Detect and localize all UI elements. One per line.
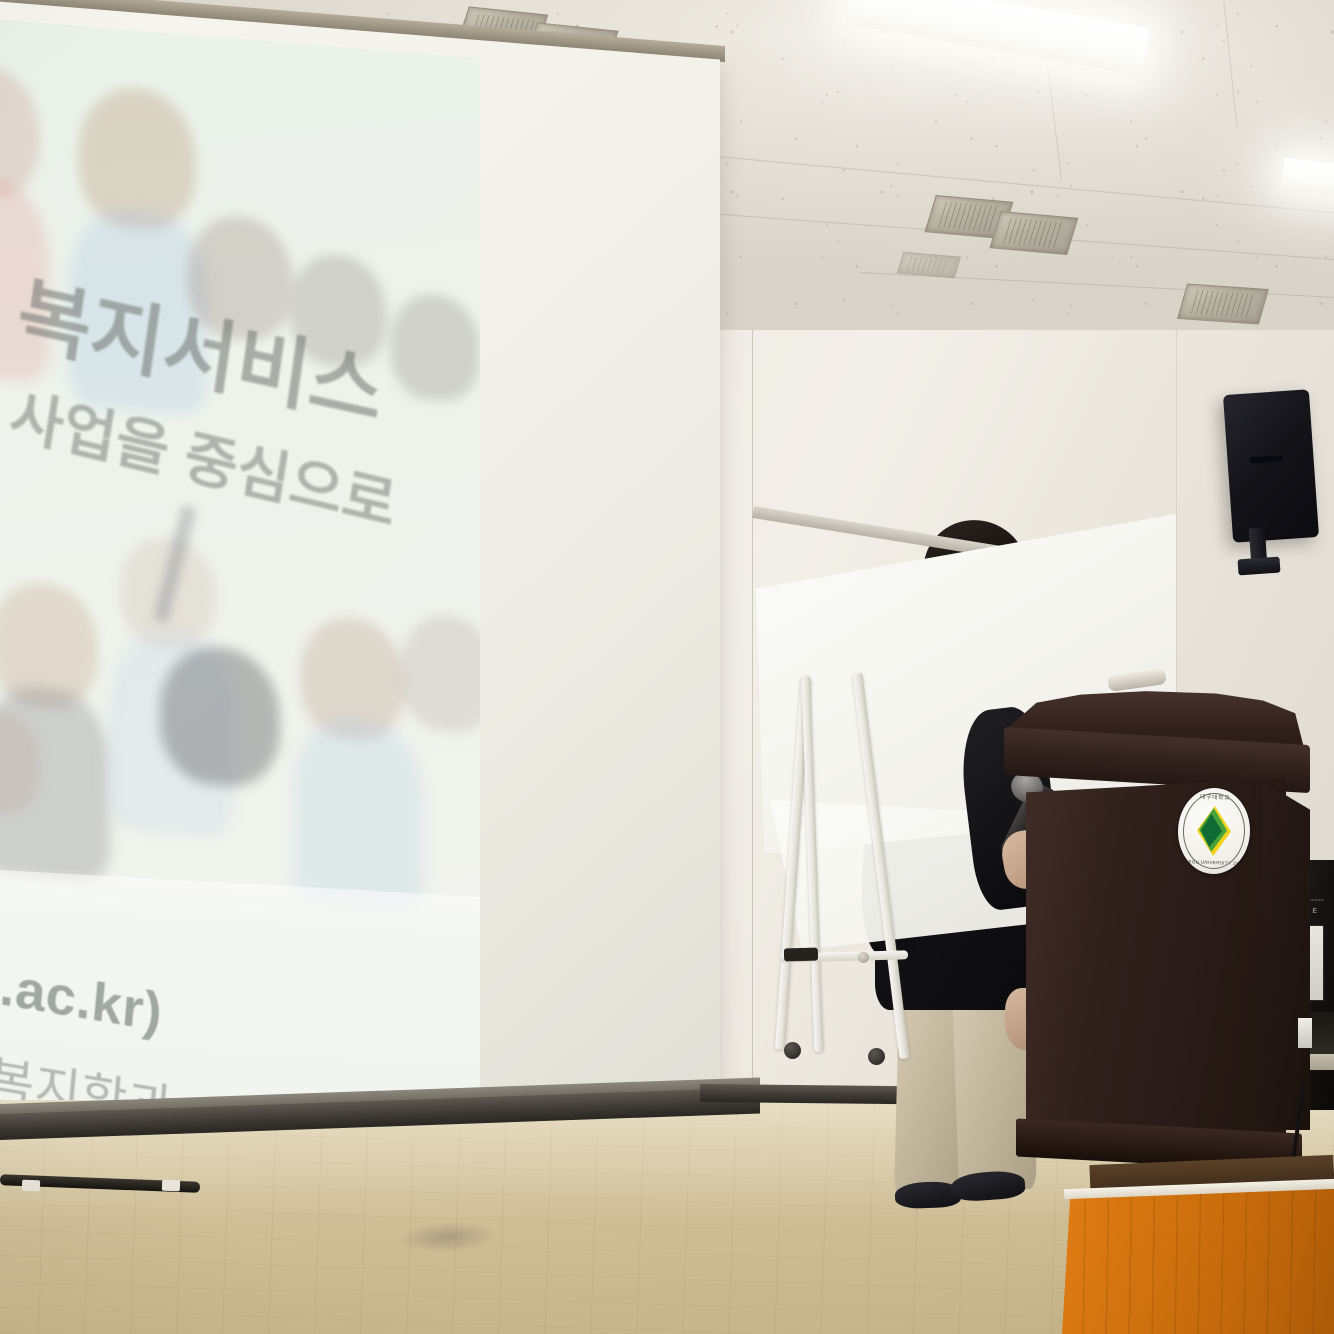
speaker-port — [1249, 455, 1283, 463]
speaker-bracket-base — [1237, 557, 1280, 576]
slide-child-body — [292, 715, 424, 916]
wood-panel — [1062, 1186, 1334, 1334]
rack-device — [1298, 1018, 1312, 1048]
ceiling-air-vent — [1177, 283, 1269, 324]
slide-child — [160, 642, 280, 790]
cable-tape-marker — [162, 1180, 180, 1192]
slide-child — [0, 62, 40, 201]
wood-grain-texture — [1062, 1186, 1334, 1334]
university-seal: 대구대학교 DAEGU UNIVERSITY 1956 — [1177, 787, 1252, 875]
easel-grip — [784, 948, 818, 962]
podium-side-panel — [1262, 774, 1310, 1130]
ceiling-air-vent — [989, 211, 1078, 255]
cable-tape-marker — [22, 1180, 40, 1192]
seal-leaf-emblem — [1193, 804, 1235, 857]
easel-knob — [858, 952, 869, 963]
easel-caster-left — [784, 1042, 801, 1059]
easel-caster-right — [868, 1048, 885, 1065]
podium: 대구대학교 DAEGU UNIVERSITY 1956 — [1010, 690, 1310, 1170]
floor-scuff-mark — [399, 1220, 496, 1255]
slide-child — [400, 612, 480, 736]
lecture-hall-photo: ㅣ복지서비스 ㅅ 사업을 중심으로 증 na.ac.kr) 회복지학과 — [0, 0, 1334, 1334]
projected-slide: ㅣ복지서비스 ㅅ 사업을 중심으로 증 na.ac.kr) 회복지학과 — [0, 16, 480, 1148]
slide-child — [390, 291, 480, 404]
seal-text-korean: 대구대학교 — [1179, 792, 1251, 803]
pa-speaker — [1223, 389, 1319, 543]
projection-screen: ㅣ복지서비스 ㅅ 사업을 중심으로 증 na.ac.kr) 회복지학과 — [0, 0, 740, 1241]
